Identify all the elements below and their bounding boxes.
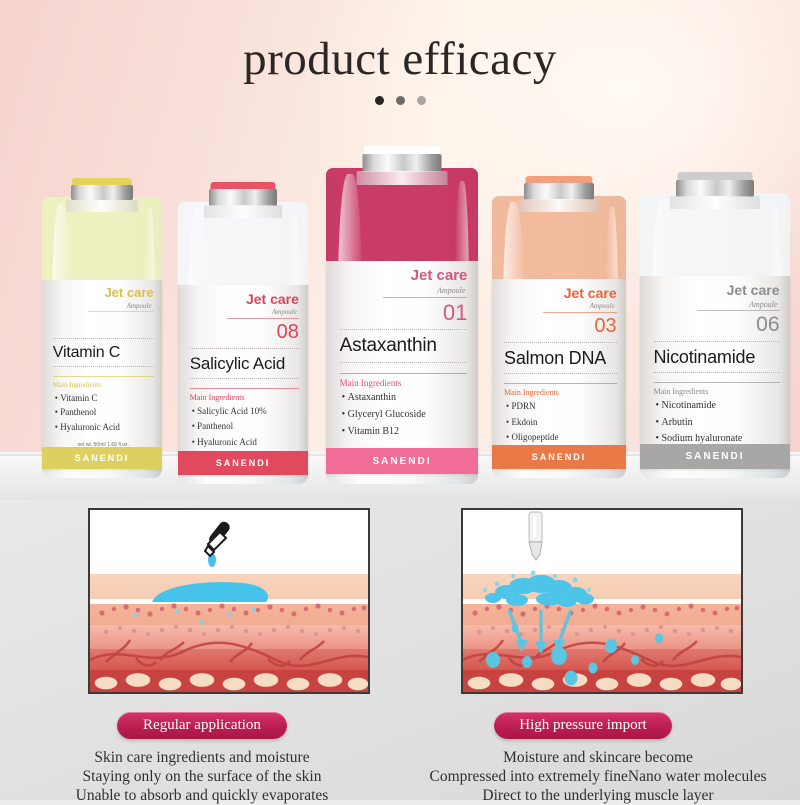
ingredient-item: • Arbutin — [656, 417, 693, 428]
brand-band: SANENDI — [640, 444, 790, 469]
ampoule-text: Ampoule — [590, 302, 615, 310]
hero-section: product efficacy Jet care Ampoule — [0, 0, 800, 500]
regular-application-caption: Skin care ingredients and moisture Stayi… — [20, 748, 384, 805]
ingredient-item: • Panthenol — [55, 407, 96, 417]
ingredient-item: • Panthenol — [192, 421, 233, 431]
product-name: Salmon DNA — [504, 348, 606, 369]
high-pressure-import-caption: Moisture and skincare become Compressed … — [398, 748, 798, 805]
bottle-cap-ring — [524, 183, 594, 200]
number-divider — [383, 297, 467, 298]
number-divider — [543, 312, 617, 313]
brand-band: SANENDI — [326, 448, 478, 474]
ampoule-text: Ampoule — [127, 302, 152, 310]
bottle-cap-ring — [363, 154, 442, 172]
product-name: Vitamin C — [53, 344, 120, 362]
ampoule-number: 01 — [443, 300, 467, 326]
product-name-box: Vitamin C — [53, 338, 154, 367]
main-ingredients-label: Main Ingredients — [654, 387, 709, 396]
brand-name: SANENDI — [372, 456, 431, 467]
bottle-cap-ring — [676, 180, 754, 197]
brand-band: SANENDI — [178, 451, 308, 475]
comparison-section: Regular application Skin care ingredient… — [0, 500, 800, 800]
ingredient-item: • Oligopeptide — [506, 432, 558, 442]
number-divider — [88, 311, 154, 312]
product-name-box: Salmon DNA — [504, 342, 617, 374]
product-name-box: Nicotinamide — [654, 341, 780, 373]
bottle-astaxanthin[interactable]: Jet care Ampoule 01 Astaxanthin Main Ing… — [326, 146, 478, 484]
ingredient-item: • Nicotinamide — [656, 400, 716, 411]
high-pressure-import-diagram — [461, 508, 743, 694]
carousel-dots — [0, 96, 800, 105]
number-divider — [697, 310, 780, 311]
ingredient-item: • Vitamin B12 — [342, 426, 399, 437]
bottle-neck — [519, 199, 599, 212]
bottle-neck — [66, 200, 138, 212]
product-name-box: Salicylic Acid — [190, 348, 299, 379]
ampoule-text: Ampoule — [437, 286, 465, 295]
jet-care-text: Jet care — [246, 291, 299, 307]
brand-name: SANENDI — [216, 458, 271, 468]
bottle-salicylic-acid[interactable]: Jet care Ampoule 08 Salicylic Acid Main … — [178, 182, 308, 484]
bottle-label: Jet care Ampoule Vitamin C Main Ingredie… — [42, 280, 162, 469]
product-name-box: Astaxanthin — [340, 329, 468, 363]
bottle-label: Jet care Ampoule 08 Salicylic Acid Main … — [178, 285, 308, 475]
dot-active[interactable] — [375, 96, 384, 105]
brand-name: SANENDI — [532, 452, 587, 462]
dot-third[interactable] — [417, 96, 426, 105]
page-title: product efficacy — [0, 32, 800, 86]
ingredients-divider — [53, 376, 154, 377]
bottle-salmon-dna[interactable]: Jet care Ampoule 03 Salmon DNA Main Ingr… — [492, 176, 626, 478]
regular-application-diagram — [88, 508, 370, 694]
number-divider — [227, 318, 299, 319]
main-ingredients-label: Main Ingredients — [53, 381, 101, 389]
bottle-vitamin-c[interactable]: Jet care Ampoule Vitamin C Main Ingredie… — [42, 178, 162, 478]
skin-structure-svg — [463, 510, 743, 694]
ingredient-item: • Salicylic Acid 10% — [192, 406, 267, 416]
regular-application-badge[interactable]: Regular application — [117, 712, 287, 739]
bottle-label: Jet care Ampoule 06 Nicotinamide Main In… — [640, 276, 790, 469]
ingredients-divider — [190, 388, 299, 389]
skin-structure-svg — [90, 510, 370, 694]
ingredient-item: • Hyaluronic Acid — [55, 422, 120, 432]
ingredients-divider — [340, 373, 468, 374]
brand-band: SANENDI — [492, 445, 626, 469]
ampoule-text: Ampoule — [749, 300, 777, 309]
ingredients-divider — [654, 382, 780, 383]
ampoule-number: 06 — [756, 313, 779, 337]
ingredient-item: • Vitamin C — [55, 393, 98, 403]
ingredient-item: • Sodium hyaluronate — [656, 433, 743, 444]
main-ingredients-label: Main Ingredients — [504, 388, 559, 397]
jet-care-text: Jet care — [564, 285, 617, 301]
bottle-label: Jet care Ampoule 03 Salmon DNA Main Ingr… — [492, 279, 626, 469]
main-ingredients-label: Main Ingredients — [340, 378, 402, 388]
bottle-nicotinamide[interactable]: Jet care Ampoule 06 Nicotinamide Main In… — [640, 172, 790, 478]
bottle-neck — [357, 171, 448, 185]
pooled-liquid — [152, 582, 268, 602]
ingredient-item: • PDRN — [506, 401, 535, 411]
product-name: Astaxanthin — [340, 335, 437, 357]
product-name: Salicylic Acid — [190, 354, 285, 374]
bottle-neck — [204, 205, 282, 218]
ampoule-number: 03 — [594, 315, 616, 338]
brand-name: SANENDI — [75, 453, 130, 463]
ingredient-item: • Astaxanthin — [342, 392, 396, 403]
ampoule-number: 08 — [277, 321, 299, 344]
ampoule-text: Ampoule — [272, 308, 297, 316]
main-ingredients-label: Main Ingredients — [190, 393, 245, 402]
bottle-cap-ring — [71, 185, 133, 200]
dot-second[interactable] — [396, 96, 405, 105]
nano-mist — [485, 575, 594, 607]
jet-nozzle-icon — [529, 512, 542, 560]
high-pressure-import-badge[interactable]: High pressure import — [494, 712, 672, 739]
bottle-neck — [670, 196, 760, 209]
product-efficacy-page: product efficacy Jet care Ampoule — [0, 0, 800, 800]
ingredient-item: • Glyceryl Glucoside — [342, 409, 426, 420]
jet-care-text: Jet care — [104, 285, 153, 300]
ingredient-item: • Hyaluronic Acid — [192, 437, 257, 447]
ingredient-item: • Ekdoin — [506, 417, 537, 427]
brand-name: SANENDI — [685, 451, 744, 462]
brand-band: SANENDI — [42, 447, 162, 469]
jet-care-text: Jet care — [411, 267, 468, 284]
bottle-label: Jet care Ampoule 01 Astaxanthin Main Ing… — [326, 261, 478, 474]
ingredients-divider — [504, 383, 617, 384]
bottle-cap-ring — [209, 189, 277, 206]
jet-care-text: Jet care — [727, 282, 780, 298]
dropper-icon — [205, 520, 232, 556]
product-name: Nicotinamide — [654, 347, 756, 368]
